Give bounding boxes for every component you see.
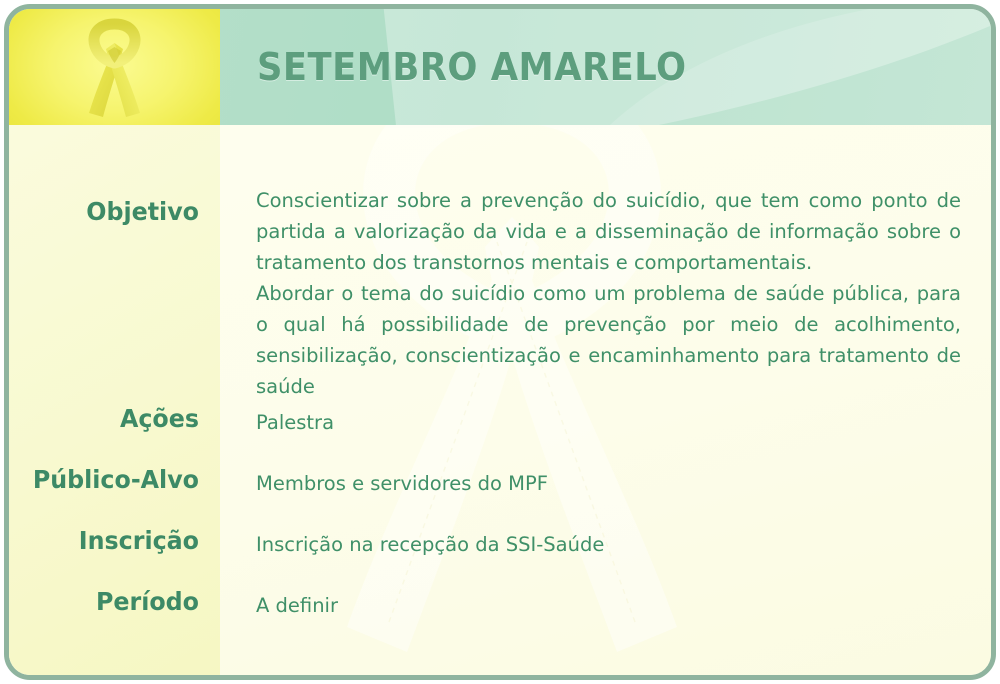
row-label-publico-alvo: Público-Alvo — [19, 465, 200, 494]
ribbon-icon-panel — [9, 9, 220, 125]
row-label-acoes: Ações — [19, 404, 200, 433]
objetivo-paragraph-1: Conscientizar sobre a prevenção do suicí… — [256, 185, 961, 278]
row-value-objetivo: Conscientizar sobre a prevenção do suicí… — [256, 185, 961, 402]
card-body: Objetivo Conscientizar sobre a prevenção… — [9, 125, 991, 675]
row-label-inscricao: Inscrição — [19, 526, 200, 555]
row-value-publico-alvo: Membros e servidores do MPF — [256, 468, 961, 499]
row-value-acoes: Palestra — [256, 407, 961, 438]
row-label-objetivo: Objetivo — [19, 197, 200, 226]
card-header: SETEMBRO AMARELO — [9, 9, 991, 125]
row-value-periodo: A definir — [256, 590, 961, 621]
awareness-ribbon-icon — [9, 9, 220, 125]
row-value-inscricao: Inscrição na recepção da SSI-Saúde — [256, 529, 961, 560]
objetivo-paragraph-2: Abordar o tema do suicídio como um probl… — [256, 278, 961, 402]
row-label-periodo: Período — [19, 587, 200, 616]
page-title: SETEMBRO AMARELO — [257, 9, 686, 125]
campaign-card: SETEMBRO AMARELO Objetivo Conscientizar … — [4, 4, 996, 680]
